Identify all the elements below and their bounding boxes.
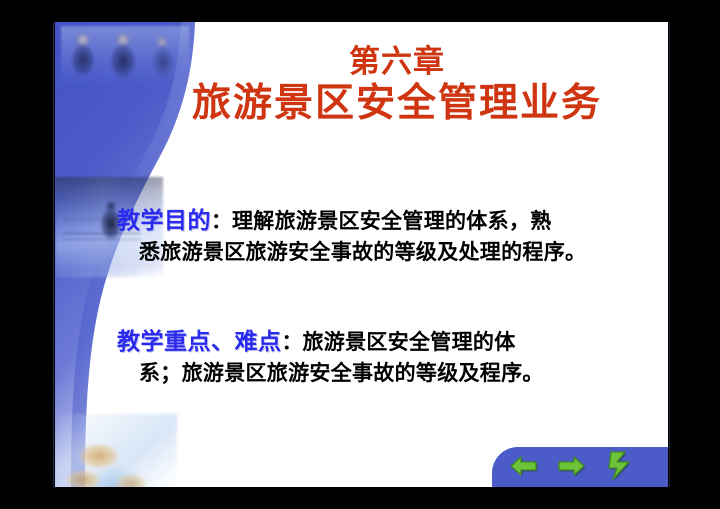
teaching-objective-line1: 理解旅游景区安全管理的体系，熟: [232, 209, 552, 233]
chevron-forward-icon: [608, 451, 636, 482]
last-slide-button[interactable]: [608, 451, 636, 482]
teaching-focus-label: 教学重点、难点: [117, 329, 282, 354]
teaching-focus-line2: 系；旅游景区旅游安全事故的等级及程序。: [117, 358, 637, 388]
slide-navigation-bar: [492, 447, 668, 487]
chapter-subject: 旅游景区安全管理业务: [137, 81, 657, 127]
slide-title: 第六章 旅游景区安全管理业务: [137, 44, 657, 127]
previous-slide-button[interactable]: [510, 455, 540, 479]
arrow-right-icon: [558, 455, 588, 479]
teaching-focus-colon: ：: [282, 330, 303, 354]
screenshot-frame: 第六章 旅游景区安全管理业务 教学目的：理解旅游景区安全管理的体系，熟 悉旅游景…: [0, 0, 720, 509]
teaching-objective-line2: 悉旅游景区旅游安全事故的等级及处理的程序。: [117, 237, 637, 267]
arrow-left-icon: [510, 455, 540, 479]
slide-left-rule: [53, 22, 54, 487]
teaching-focus-line1: 旅游景区安全管理的体: [303, 330, 516, 354]
teaching-focus-block: 教学重点、难点：旅游景区安全管理的体 系；旅游景区旅游安全事故的等级及程序。: [117, 325, 637, 389]
slide-right-rule: [669, 22, 670, 487]
slide-content: 第六章 旅游景区安全管理业务 教学目的：理解旅游景区安全管理的体系，熟 悉旅游景…: [55, 22, 668, 487]
next-slide-button[interactable]: [558, 455, 588, 479]
presentation-slide: 第六章 旅游景区安全管理业务 教学目的：理解旅游景区安全管理的体系，熟 悉旅游景…: [55, 22, 668, 487]
teaching-objective-colon: ：: [211, 209, 232, 233]
chapter-number: 第六章: [137, 44, 657, 81]
teaching-objective-block: 教学目的：理解旅游景区安全管理的体系，熟 悉旅游景区旅游安全事故的等级及处理的程…: [117, 204, 637, 268]
teaching-objective-label: 教学目的: [117, 208, 211, 233]
